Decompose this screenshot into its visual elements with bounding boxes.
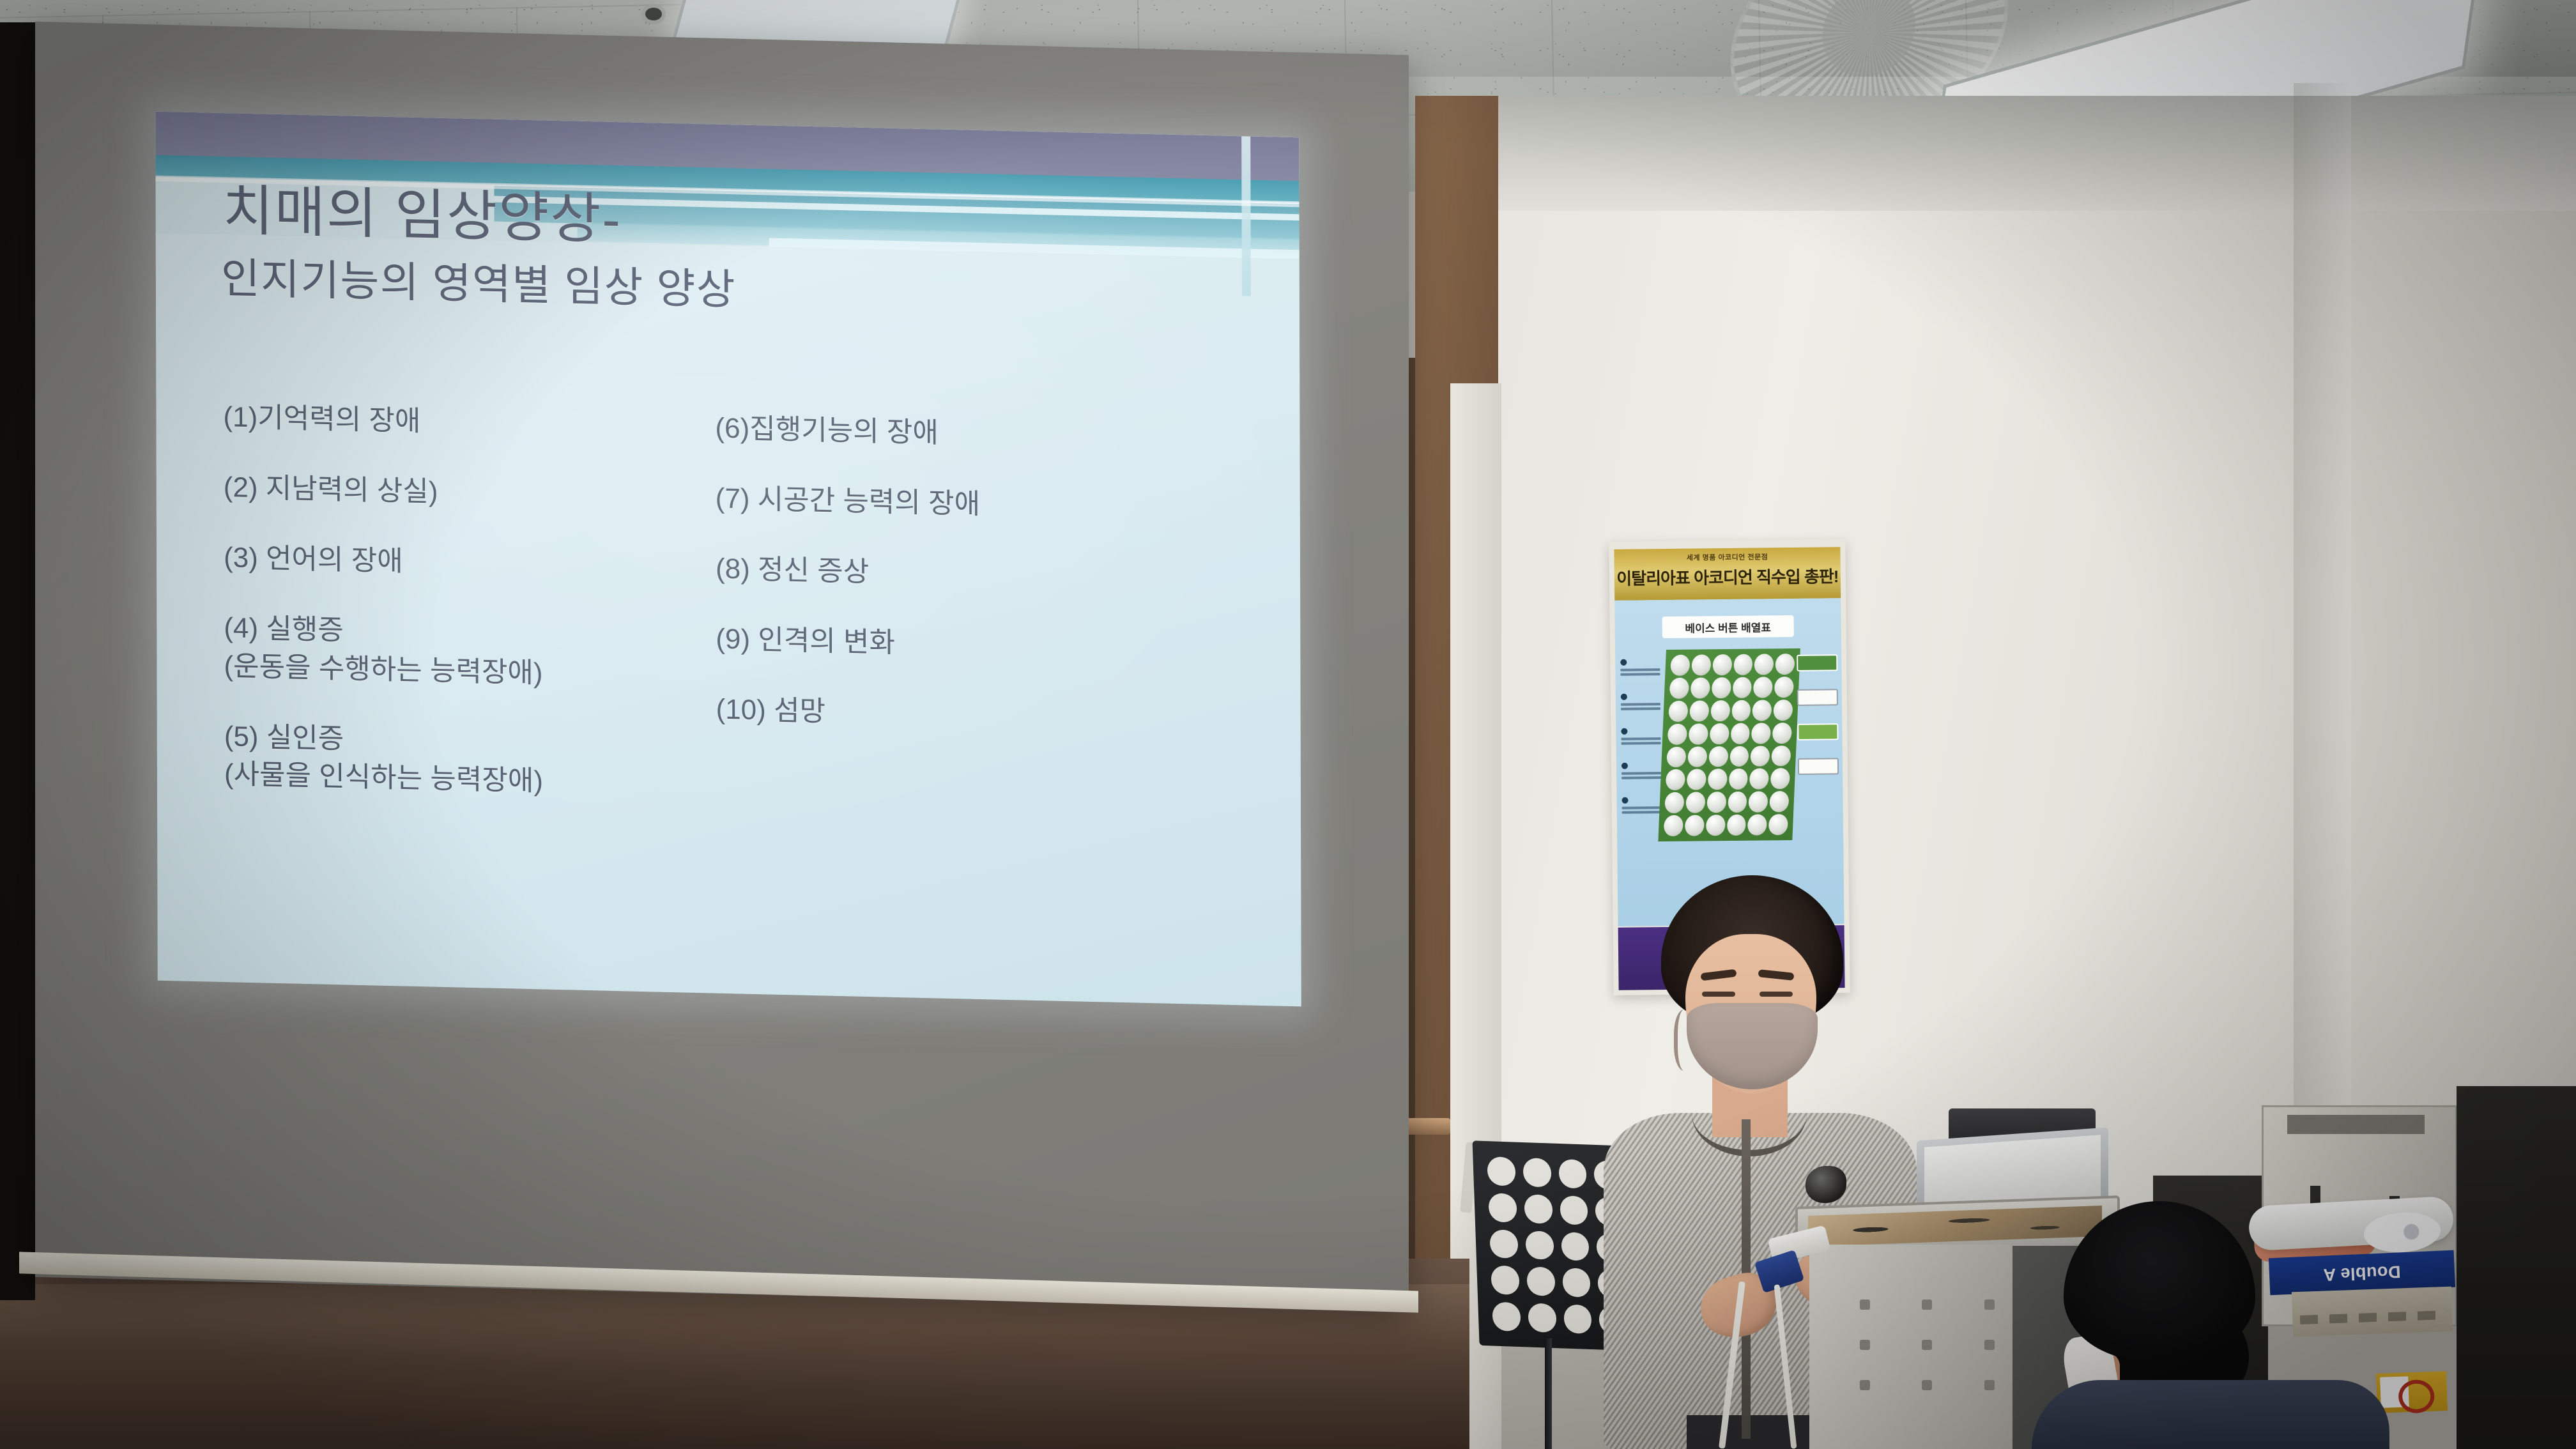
list-item-sublabel: (사물을 인식하는 능력장애)	[224, 758, 723, 803]
list-item-label: (1)기억력의 장애	[223, 401, 420, 437]
list-item: (5) 실인증 (사물을 인식하는 능력장애)	[224, 720, 723, 803]
bullet-icon	[1620, 659, 1627, 666]
legend-swatch	[1797, 689, 1838, 706]
list-item: (7) 시공간 능력의 장애	[716, 482, 1227, 526]
presenter-brooch	[1805, 1166, 1846, 1203]
shelf-slot	[2287, 1115, 2425, 1134]
button-grid	[1664, 654, 1795, 836]
bullet-icon	[1621, 694, 1627, 700]
paper-box-label: Double A	[2323, 1261, 2402, 1284]
list-item-label: (2) 지남력의 상실)	[224, 471, 438, 508]
list-item: (3) 언어의 장애	[224, 541, 722, 586]
list-item: (10) 섬망	[716, 693, 1227, 737]
list-item-label: (5) 실인증	[224, 721, 344, 755]
photo-scene: 치매의 임상양상- 인지기능의 영역별 임상 양상 (1)기억력의 장애 (2)…	[0, 0, 2576, 1449]
lower-wall-dark-shade	[0, 1284, 1469, 1449]
warning-sticker-icon	[2376, 1371, 2448, 1413]
poster-headline-small: 세계 명품 아코디언 전문점	[1614, 551, 1840, 563]
list-item-label: (8) 정신 증상	[716, 553, 869, 587]
slide-title: 치매의 임상양상-	[222, 180, 622, 250]
poster-legend	[1797, 654, 1839, 793]
list-item: (2) 지남력의 상실)	[224, 471, 722, 516]
presenter-mask-strap	[1674, 1009, 1699, 1071]
list-item-label: (10) 섬망	[716, 693, 826, 727]
poster-caption: 베이스 버튼 배열표	[1662, 615, 1794, 638]
right-wall-upper-shade	[1460, 96, 2576, 211]
list-item-label: (9) 인격의 변화	[716, 623, 895, 658]
bullet-icon	[1621, 728, 1627, 735]
list-item-sublabel: (운동을 수행하는 능력장애)	[224, 650, 722, 694]
poster-headline-main: 이탈리아표 아코디언 직수입 총판!	[1614, 563, 1841, 590]
bullet-icon	[1621, 763, 1628, 769]
audience-shoulders	[2032, 1380, 2389, 1449]
projected-slide: 치매의 임상양상- 인지기능의 영역별 임상 양상 (1)기억력의 장애 (2)…	[155, 112, 1301, 1007]
presenter-eye-left	[1702, 992, 1735, 997]
slide-right-column: (6)집행기능의 장애 (7) 시공간 능력의 장애 (8) 정신 증상 (9)…	[715, 412, 1227, 775]
poster-header: 세계 명품 아코디언 전문점 이탈리아표 아코디언 직수입 총판!	[1614, 547, 1841, 601]
list-item: (8) 정신 증상	[716, 552, 1227, 597]
legend-swatch	[1797, 654, 1837, 671]
poster-bullet-list	[1620, 659, 1662, 832]
dark-cabinet-right	[2457, 1086, 2576, 1449]
presenter-trousers	[1687, 1415, 1821, 1449]
list-item-label: (4) 실행증	[224, 612, 344, 646]
slide-decor-bar-e	[1241, 136, 1251, 296]
list-item: (4) 실행증 (운동을 수행하는 능력장애)	[224, 611, 722, 694]
legend-swatch	[1797, 723, 1838, 740]
presenter-eye-right	[1759, 992, 1793, 997]
screen-left-shadow	[0, 22, 35, 1300]
list-item-label: (7) 시공간 능력의 장애	[716, 482, 980, 519]
list-item-label: (3) 언어의 장애	[224, 542, 403, 577]
list-item: (9) 인격의 변화	[716, 622, 1227, 667]
music-stand-pole	[1545, 1338, 1552, 1449]
accordion-button-diagram	[1658, 648, 1800, 841]
wall-corner	[2294, 83, 2351, 1233]
slide-left-column: (1)기억력의 장애 (2) 지남력의 상실) (3) 언어의 장애 (4) 실…	[223, 401, 723, 839]
list-item-label: (6)집행기능의 장애	[715, 413, 939, 449]
presenter-face-mask	[1687, 1003, 1818, 1089]
ceiling-vent-icon	[645, 8, 662, 20]
legend-swatch	[1798, 758, 1839, 775]
slide-subtitle: 인지기능의 영역별 임상 양상	[221, 244, 736, 317]
bullet-icon	[1621, 797, 1628, 804]
